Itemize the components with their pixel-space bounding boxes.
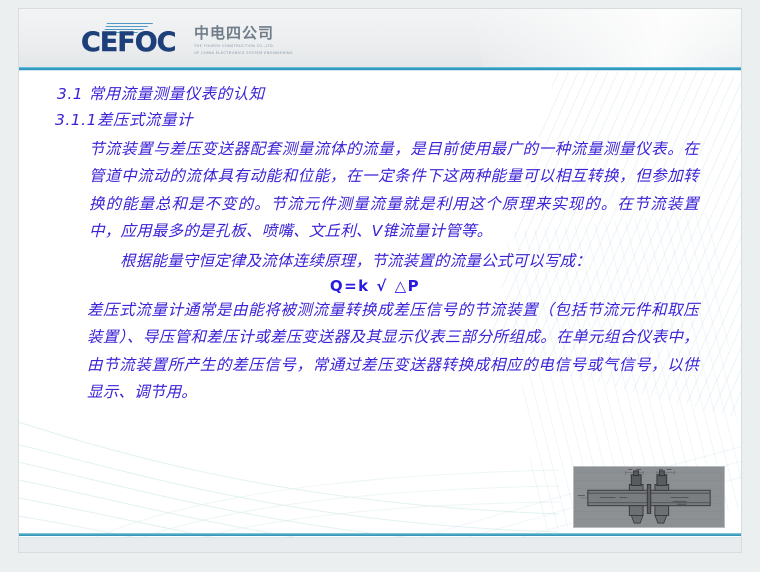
body-paragraph-3: 差压式流量计通常是由能将被测流量转换成差压信号的节流装置（包括节流元件和取压装置…	[87, 297, 699, 407]
company-logo: CEFOC 中电四公司 THE FOURTH CONSTRUCTION CO.,…	[81, 21, 293, 59]
orifice-plate-figure	[573, 466, 725, 528]
slide-page: CEFOC 中电四公司 THE FOURTH CONSTRUCTION CO.,…	[18, 8, 742, 553]
header-sheen-decoration	[474, 9, 741, 67]
body-paragraph-1: 节流装置与差压变送器配套测量流体的流量，是目前使用最广的一种流量测量仪表。在管道…	[89, 136, 699, 246]
slide-body: 3.1 常用流量测量仪表的认知 3.1.1差压式流量计 节流装置与差压变送器配套…	[19, 71, 741, 552]
logo-company-name-en-line2: OF CHINA ELECTRONICS SYSTEM ENGINEERING	[194, 51, 293, 56]
footer-divider-rule	[19, 533, 741, 536]
logo-company-name-en-line1: THE FOURTH CONSTRUCTION CO.,LTD.	[194, 44, 293, 49]
flow-formula: Q=k √ △P	[45, 277, 715, 295]
slide-canvas: CEFOC 中电四公司 THE FOURTH CONSTRUCTION CO.,…	[0, 0, 760, 572]
cefoc-logomark-icon: CEFOC	[81, 21, 185, 59]
logo-company-name-block: 中电四公司 THE FOURTH CONSTRUCTION CO.,LTD. O…	[194, 21, 293, 57]
footer-strip	[19, 538, 741, 552]
logo-company-name-cn: 中电四公司	[194, 26, 293, 42]
body-paragraph-2: 根据能量守恒定律及流体连续原理，节流装置的流量公式可以写成：	[89, 248, 699, 275]
slide-header: CEFOC 中电四公司 THE FOURTH CONSTRUCTION CO.,…	[19, 9, 741, 67]
logo-brand-text: CEFOC	[81, 29, 175, 56]
page-title-section: 3.1 常用流量测量仪表的认知	[57, 81, 715, 107]
orifice-plate-drawing-icon	[574, 467, 724, 527]
page-title-subsection: 3.1.1差压式流量计	[55, 107, 715, 134]
